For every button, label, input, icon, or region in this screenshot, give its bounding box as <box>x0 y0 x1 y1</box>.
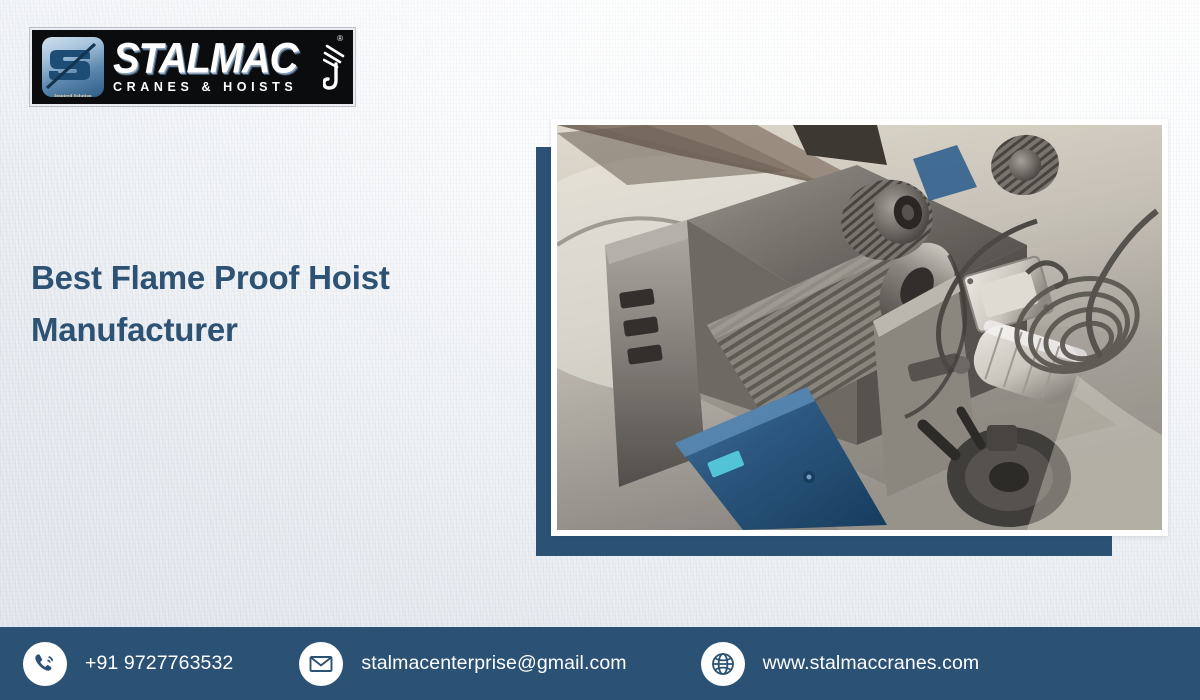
contact-phone[interactable]: +91 9727763532 <box>23 627 233 700</box>
website-url-text: www.stalmaccranes.com <box>763 652 980 675</box>
phone-number-text: +91 9727763532 <box>85 652 233 675</box>
phone-call-icon <box>23 642 67 686</box>
envelope-icon <box>299 642 343 686</box>
contact-website[interactable]: www.stalmaccranes.com <box>701 627 980 700</box>
headline-line-1: Best Flame Proof Hoist <box>31 259 390 296</box>
brand-logo[interactable]: Inspired Solution STALMAC CRANES & HOIST… <box>30 28 355 106</box>
logo-wordmark: STALMAC CRANES & HOISTS ® <box>104 36 345 98</box>
email-address-text: stalmacenterprise@gmail.com <box>361 652 626 675</box>
contact-footer-bar: +91 9727763532 stalmacenterprise@gmail.c… <box>0 627 1200 700</box>
hoist-machinery-photo <box>557 125 1162 530</box>
stalmac-monogram-icon: Inspired Solution <box>42 37 104 97</box>
headline-line-2: Manufacturer <box>31 311 238 348</box>
globe-icon <box>701 642 745 686</box>
logo-mark-caption: Inspired Solution <box>42 93 104 97</box>
page-title: Best Flame Proof Hoist Manufacturer <box>31 252 501 356</box>
contact-email[interactable]: stalmacenterprise@gmail.com <box>299 627 626 700</box>
photo-frame <box>551 119 1168 536</box>
logo-name-text: STALMAC <box>113 39 345 81</box>
banner-root: Inspired Solution STALMAC CRANES & HOIST… <box>0 0 1200 700</box>
crane-hook-icon <box>323 42 349 101</box>
